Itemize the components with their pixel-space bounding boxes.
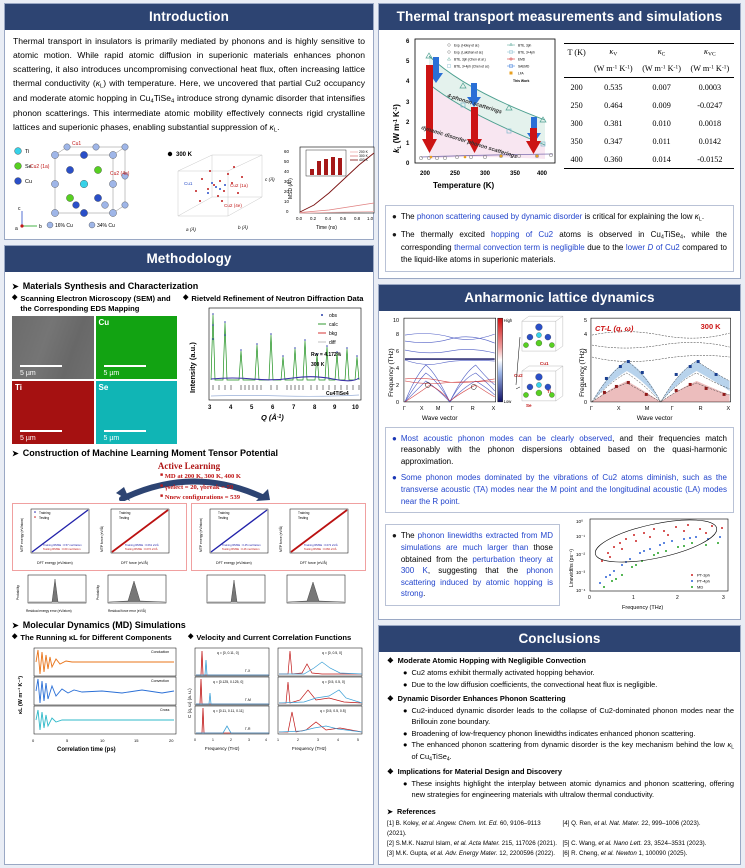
res1-xlabel: Residual energy error (eV/atom) (26, 609, 72, 613)
ml2-legend-training: Training (119, 511, 131, 515)
ml-plot-energy-2: Training Testing MTP energy (eV/atom) DF… (194, 506, 272, 568)
svg-text:10: 10 (352, 405, 359, 411)
table-row: 300 0.381 0.010 0.0018 (564, 114, 734, 132)
md-left-title-label: The Running κL for Different Components (20, 633, 171, 642)
active-learning-title: Active Learning (12, 461, 366, 471)
ccf-q-1: q = [0, 0.11, 0] (217, 651, 239, 655)
md-running-kappa-svg: Conduction Convection Cross 05 101520 Co… (12, 646, 180, 754)
right-plot-ylabel: Frequency (THz) (579, 348, 586, 397)
left-plot-ylabel: Frequency (THz) (388, 348, 395, 397)
lw-legend-pt3ph: PT-3ph (697, 573, 710, 578)
svg-text:2: 2 (406, 120, 410, 126)
lw-ytick-3: 10⁻¹ (576, 534, 586, 539)
traj-label-cu1: Cu1 (184, 181, 193, 186)
ml-box-left: Training Testing MTP energy (eV/atom) DF… (12, 503, 187, 571)
ml-plot-energy-1: Training Testing MTP energy (eV/atom) DF… (15, 506, 93, 568)
poster-root: Introduction Thermal transport in insula… (0, 0, 745, 868)
methodology-h2-label: Construction of Machine Learning Moment … (23, 448, 278, 458)
linewidth-row: ● The phonon linewidths extracted from M… (379, 517, 740, 619)
traj-axis-a: a (Å) (186, 226, 196, 232)
active-learning-flow: ■ MD at 200 K, 300 K, 400 K ■ γselect = … (12, 471, 366, 501)
ml3-legend-training: Training (218, 511, 230, 515)
rietveld-legend-obs: obs (329, 313, 338, 319)
svg-text:0.4: 0.4 (325, 216, 332, 221)
conclusion-heading-1: ❖ Moderate Atomic Hopping with Negligibl… (387, 656, 734, 667)
svg-text:0: 0 (194, 738, 196, 742)
rietveld-legend-calc: calc (329, 322, 338, 328)
kappa-vs-temperature-chart: 4-phonon scatterings dynamic disorder ph… (385, 35, 560, 200)
svg-text:5: 5 (584, 318, 587, 324)
right-column: Thermal transport measurements and simul… (378, 3, 741, 865)
eds-label-se: Se (99, 383, 109, 392)
ml2-xlabel: DFT force (eV/Å) (121, 560, 148, 565)
cell-kv: 0.381 (589, 114, 637, 132)
svg-text:0.2: 0.2 (310, 216, 317, 221)
arrow-bullet-icon: ➤ (12, 621, 19, 630)
lw-ytick-1: 10⁻³ (576, 570, 586, 575)
crystal-structure-svg: Ti Se Cu (10, 141, 160, 236)
svg-text:4: 4 (396, 366, 399, 372)
legend-bte-34ph: BTE, 3+4ph (518, 51, 535, 55)
anharmonic-bullets: ● Most acoustic phonon modes can be clea… (385, 427, 734, 514)
ml-parity-row: Training Testing MTP energy (eV/atom) DF… (12, 503, 366, 571)
trajectory-temp: 300 K (176, 152, 193, 158)
struct-label-se: Se (526, 403, 532, 408)
svg-text:0: 0 (32, 738, 35, 743)
svg-text:Γ: Γ (590, 406, 593, 412)
svg-text:2: 2 (297, 738, 299, 742)
cell-t: 250 (564, 96, 589, 114)
conclusion-heading-2: ❖ Dynamic Disorder Enhances Phonon Scatt… (387, 694, 734, 705)
conclusion-heading-3: ❖ Implications for Material Design and D… (387, 767, 734, 778)
linewidth-bullet-box: ● The phonon linewidths extracted from M… (385, 524, 560, 606)
ml1-note2: Testing RMSE : 0.60 meV/atom (43, 547, 81, 551)
references-heading-label: References (397, 807, 436, 817)
cell-kvc: 0.0003 (686, 78, 734, 97)
rietveld-block: ◆ Rietveld Refinement of Neutron Diffrac… (183, 294, 366, 444)
ml4-ylabel: MTP force (eV/Å) (278, 526, 283, 552)
cell-kv: 0.347 (589, 132, 637, 150)
axis-a: a (15, 226, 18, 232)
legend-bte-3ph: BTE, 3ph (518, 44, 532, 48)
svg-text:40: 40 (284, 169, 289, 174)
kappa-chart-ylabel: kL (W m-1 K-1) (392, 104, 403, 153)
ml3-xlabel: DFT energy (eV/atom) (216, 561, 252, 565)
md-panel-label-cross: Cross (160, 708, 170, 712)
struct-label-ti: Ti (547, 389, 551, 394)
eds-panel-sem: 5 µm (12, 316, 94, 379)
residual-energy-2 (191, 573, 269, 615)
left-plot-xlabel: Wave vector (422, 415, 459, 422)
list-item: ● These insights highlight the interplay… (403, 779, 734, 800)
svg-text:8: 8 (396, 332, 399, 338)
table-row: 200 0.535 0.007 0.0003 (564, 78, 734, 97)
colorbar-high: High (504, 318, 512, 323)
spectral-temp: 300 K (701, 322, 722, 331)
conclusion-heading-1-label: Moderate Atomic Hopping with Negligible … (398, 656, 586, 667)
bullet-dot-icon: ● (392, 211, 397, 224)
legend-bte-34ph-chen: BTE, 3+4ph (Chen et al.) (454, 65, 489, 69)
reference-item: [3] M.K. Gupta, et al. Adv. Energy Mater… (387, 849, 559, 859)
bullet-dot-icon: ● (403, 668, 407, 679)
panel-conclusions: Conclusions ❖ Moderate Atomic Hopping wi… (378, 625, 741, 865)
lw-ylabel: Linewidths (ps⁻¹) (569, 549, 575, 587)
ml2-ylabel: MTP force (eV/Å) (99, 526, 104, 552)
rietveld-xlabel: Q (Å-1) (261, 413, 284, 422)
svg-text:1: 1 (632, 595, 635, 601)
label-cu2-4e: Cu2 (4e) (110, 171, 130, 177)
bullet-dot-icon: ● (392, 433, 397, 468)
svg-text:R: R (471, 406, 475, 412)
svg-text:1: 1 (277, 738, 279, 742)
svg-text:X: X (727, 406, 731, 412)
conclusions-body: ❖ Moderate Atomic Hopping with Negligibl… (379, 652, 740, 863)
svg-text:20: 20 (169, 738, 174, 743)
ccf-branch-3: Γ-R (245, 727, 251, 731)
md-titles-row: ◆ The Running κL for Different Component… (12, 633, 366, 642)
ml4-legend-training: Training (298, 511, 310, 515)
list-item: ● Broadening of low-frequency phonon lin… (403, 729, 734, 740)
svg-text:1.0: 1.0 (367, 216, 374, 221)
svg-text:0: 0 (406, 161, 410, 167)
al-item-0: MD at 200 K, 300 K, 400 K (165, 473, 241, 480)
svg-text:1: 1 (212, 738, 214, 742)
svg-text:X: X (420, 406, 424, 412)
eds-panel-ti: Ti 5 µm (12, 381, 94, 444)
th-unit-blank (564, 61, 589, 78)
svg-text:0.0: 0.0 (296, 216, 303, 221)
phonon-dispersion-left-svg: High Low 024 6810 ΓXM ΓRX Wave vector Fr… (384, 315, 512, 423)
svg-text:3: 3 (406, 100, 410, 106)
al-item-2: Nnew configurations = 539 (165, 494, 240, 501)
list-item: ● The phonon linewidths extracted from M… (392, 530, 553, 600)
svg-text:8: 8 (313, 405, 317, 411)
sem-eds-block: ◆ Scanning Electron Microscopy (SEM) and… (12, 294, 177, 444)
diamond-outline-icon: ❖ (387, 767, 394, 778)
ccf-r-q-3: q = [0.5, 0.5, 0.5] (320, 709, 346, 713)
characterization-row: ◆ Scanning Electron Microscopy (SEM) and… (12, 294, 366, 444)
panel-thermal: Thermal transport measurements and simul… (378, 3, 741, 279)
svg-text:Γ: Γ (671, 406, 674, 412)
ccf-q-3: q = [0.11, 0.11, 0.11] (213, 709, 244, 713)
thermal-bullet-2: The thermally excited hopping of Cu2 ato… (401, 229, 727, 265)
eds-label-ti: Ti (15, 383, 22, 392)
cell-kvc: -0.0152 (686, 150, 734, 169)
md-ccf-right-svg: q = [0, 0.5, 0] q = [0.5, 0.5, 0] q = [0… (274, 646, 366, 754)
thermal-title: Thermal transport measurements and simul… (379, 4, 740, 30)
md-plots-row: Conduction Convection Cross 05 101520 Co… (12, 646, 366, 754)
traj-label-cu2-1a: Cu2 (1a) (230, 183, 248, 188)
ml-residual-row: Probability Residual energy error (eV/at… (12, 573, 366, 615)
svg-text:300: 300 (480, 171, 491, 177)
svg-text:5: 5 (357, 738, 359, 742)
list-item: ● Some phonon modes dominated by the vib… (392, 472, 727, 507)
conclusion-heading-3-label: Implications for Material Design and Dis… (398, 767, 562, 778)
msd-ylabel: MSD (Å²) (287, 178, 294, 199)
md-panel-label-convection: Convection (151, 679, 169, 683)
list-item: ● Cu2 atoms exhibit thermally activated … (403, 668, 734, 679)
ccf-branch-1: Γ-X (245, 669, 251, 673)
linewidths-scatter-svg: PT-3ph PT-4ph MD 10⁻⁴ 10⁻³ 10⁻² 10⁻¹ 10⁰… (564, 517, 732, 613)
reference-item: [5] C. Wang, et al. Nano Lett. 23, 3524–… (563, 839, 735, 849)
kappa-chart-xlabel: Temperature (K) (433, 181, 495, 190)
conclusion-3-item-1: These insights highlight the interplay b… (411, 779, 734, 800)
axis-b: b (39, 224, 42, 230)
diamond-bullet-icon: ◆ (183, 294, 188, 303)
svg-text:7: 7 (292, 405, 296, 411)
svg-text:5: 5 (66, 738, 69, 743)
cell-kc: 0.009 (637, 96, 685, 114)
th-kc: κC (637, 44, 685, 62)
cell-t: 300 (564, 114, 589, 132)
occupancy-16: 16% Cu (55, 223, 73, 229)
eds-panel-se: Se 5 µm (96, 381, 178, 444)
list-item: ● The thermally excited hopping of Cu2 a… (392, 229, 727, 265)
svg-text:4: 4 (584, 332, 587, 338)
lw-ytick-4: 10⁰ (576, 519, 583, 524)
ccf-r-q-2: q = [0.5, 0.5, 0] (322, 680, 345, 684)
occupancy-34: 34% Cu (97, 223, 115, 229)
svg-text:4: 4 (406, 79, 410, 85)
msd-legend-400: 400 K (359, 158, 369, 162)
th-unit-kc: (W m-1 K-1) (637, 61, 685, 78)
cell-kc: 0.014 (637, 150, 685, 169)
msd-svg: 01020 30405060 0.00.20.4 0.60.81.0 Time … (284, 141, 379, 236)
svg-text:0: 0 (396, 400, 399, 406)
lw-legend-md: MD (697, 585, 703, 590)
md-left-title: ◆ The Running κL for Different Component… (12, 633, 182, 642)
rietveld-legend-bkg: bkg (329, 331, 337, 337)
svg-text:50: 50 (284, 159, 289, 164)
traj-label-cu2-4e: Cu2 (4e) (224, 203, 242, 208)
svg-text:Γ: Γ (451, 406, 454, 412)
res2-xlabel: Residual force error (eV/Å) (108, 608, 146, 613)
th-t: T (K) (564, 44, 589, 62)
md-right-title: ◆ Velocity and Current Correlation Funct… (188, 633, 366, 642)
ccf-mid-ylabel: C (q, ω) (a. u.) (187, 688, 192, 718)
ml1-note1: Training RMSE : 0.57 meV/atom (43, 543, 82, 547)
rietveld-title-label: Rietveld Refinement of Neutron Diffracti… (191, 294, 363, 303)
lw-legend-pt4ph: PT-4ph (697, 579, 710, 584)
cell-t: 400 (564, 150, 589, 169)
svg-text:5: 5 (250, 405, 254, 411)
right-plot-xlabel: Wave vector (637, 415, 674, 422)
struct-label-cu2: Cu2 (514, 373, 523, 378)
svg-text:15: 15 (134, 738, 139, 743)
anharmonic-bullets-wrap: ● Most acoustic phonon modes can be clea… (379, 425, 740, 518)
svg-text:0.6: 0.6 (340, 216, 347, 221)
kappa-table-body: 200 0.535 0.007 0.0003 250 0.464 0.009 -… (564, 78, 734, 169)
rietveld-title: ◆ Rietveld Refinement of Neutron Diffrac… (183, 294, 366, 303)
cell-t: 350 (564, 132, 589, 150)
methodology-title: Methodology (5, 246, 373, 272)
ml3-note1: Training RMSE : 0.45 meV/atom (222, 543, 261, 547)
anharmonic-figs-row: High Low 024 6810 ΓXM ΓRX Wave vector Fr… (379, 311, 740, 425)
panel-methodology: Methodology ➤ Materials Synthesis and Ch… (4, 245, 374, 865)
active-learning-items: ■ MD at 200 K, 300 K, 400 K ■ γselect = … (160, 472, 241, 503)
scale-bar (104, 365, 146, 367)
cell-kc: 0.011 (637, 132, 685, 150)
spectral-function-svg: CT-L (q, ω) 300 K 012 345 ΓXM ΓRX Wave v… (575, 315, 735, 423)
ml3-legend-testing: Testing (218, 516, 228, 520)
svg-text:250: 250 (450, 171, 461, 177)
svg-text:0: 0 (588, 595, 591, 601)
th-kv: κV (589, 44, 637, 62)
svg-text:2: 2 (396, 383, 399, 389)
bullet-dot-icon: ● (403, 779, 407, 800)
linewidth-bullet: The phonon linewidths extracted from MD … (401, 530, 553, 600)
svg-text:6: 6 (396, 349, 399, 355)
bullet-dot-icon: ● (392, 530, 397, 600)
thermal-bullets-wrap: ● The phonon scattering caused by dynami… (379, 203, 740, 278)
ml1-legend-testing: Testing (39, 516, 49, 520)
kappa-table-wrap: T (K) κV κC κVC (W m-1 K-1) (W m-1 K-1) … (564, 35, 734, 200)
svg-text:0: 0 (286, 209, 289, 214)
svg-text:Γ: Γ (403, 406, 406, 412)
residual-box-right (191, 573, 366, 615)
scale-bar (104, 430, 146, 432)
crystal-structure-figure: Ti Se Cu (10, 141, 160, 234)
conclusion-heading-2-label: Dynamic Disorder Enhances Phonon Scatter… (398, 694, 566, 705)
cell-kvc: 0.0142 (686, 132, 734, 150)
ml1-ylabel: MTP energy (eV/atom) (20, 518, 24, 552)
eds-scale-se: 5 µm (104, 435, 120, 442)
bullet-dot-icon: ● (392, 472, 397, 507)
ccf-r-q-1: q = [0, 0.5, 0] (322, 651, 342, 655)
md-ccf-mid-svg: q = [0, 0.11, 0] Γ-X q = [0.125, 0.125, … (183, 646, 271, 754)
eds-scale-ti: 5 µm (20, 435, 36, 442)
svg-text:350: 350 (510, 171, 521, 177)
ml1-legend-training: Training (39, 511, 51, 515)
conclusion-1-item-2: Due to the low diffusion coefficients, t… (411, 680, 734, 691)
methodology-subheading-3: ➤ Molecular Dynamics (MD) Simulations (12, 620, 366, 630)
th-kvc: κVC (686, 44, 734, 62)
table-row: 250 0.464 0.009 -0.0247 (564, 96, 734, 114)
eds-grid: 5 µm Cu 5 µm Ti 5 µm (12, 316, 177, 444)
structure-figure-row: Ti Se Cu (5, 139, 373, 239)
cell-kc: 0.007 (637, 78, 685, 97)
svg-text:0.8: 0.8 (354, 216, 361, 221)
conclusions-title: Conclusions (379, 626, 740, 652)
ml-plot-force-1: Training Testing MTP force (eV/Å) DFT fo… (95, 506, 173, 568)
arrow-bullet-icon: ➤ (12, 282, 19, 291)
structure-insets-svg: Cu1 Cu2 Ti Se (514, 315, 574, 423)
references-list: [1] B. Koley, et al. Angew. Chem. Int. E… (387, 819, 734, 859)
sem-title-label: Scanning Electron Microscopy (SEM) and t… (20, 294, 177, 313)
table-row: 350 0.347 0.011 0.0142 (564, 132, 734, 150)
rietveld-svg: obs calc bkg diff Rw = 4.172% 300 K Cu4T… (183, 305, 365, 423)
bullet-dot-icon: ● (403, 680, 407, 691)
arrow-bullet-icon: ➤ (12, 449, 19, 458)
list-item: ● Due to the low diffusion coefficients,… (403, 680, 734, 691)
cell-kc: 0.010 (637, 114, 685, 132)
svg-text:3: 3 (722, 595, 725, 601)
residual-box-left: Probability Residual energy error (eV/at… (12, 573, 187, 615)
svg-text:M: M (436, 406, 441, 412)
svg-text:10: 10 (393, 318, 399, 324)
lw-ytick-2: 10⁻² (576, 552, 586, 557)
ml1-xlabel: DFT energy (eV/atom) (37, 561, 73, 565)
introduction-body: Thermal transport in insulators is prima… (5, 30, 373, 139)
md-panel-label-conduction: Conduction (151, 650, 169, 654)
svg-text:X: X (617, 406, 621, 412)
thermal-bullets: ● The phonon scattering caused by dynami… (385, 205, 734, 272)
diamond-outline-icon: ❖ (387, 656, 394, 667)
table-row: 400 0.360 0.014 -0.0152 (564, 150, 734, 169)
residual-force-2 (271, 573, 349, 615)
bullet-dot-icon: ● (403, 706, 407, 727)
anharmonic-title: Anharmonic lattice dynamics (379, 285, 740, 311)
legend-this-work: This Work (513, 79, 529, 83)
anharmonic-bullet-2: Some phonon modes dominated by the vibra… (401, 472, 727, 507)
diamond-bullet-icon: ◆ (188, 633, 193, 642)
svg-text:3: 3 (317, 738, 319, 742)
svg-text:9: 9 (333, 405, 337, 411)
ml3-ylabel: MTP energy (eV/atom) (199, 518, 203, 552)
res2-ylabel: Probability (96, 585, 100, 600)
reference-item: [4] Q. Ren, et al. Nat. Mater. 22, 999–1… (563, 819, 735, 839)
diamond-bullet-icon: ◆ (12, 294, 17, 303)
svg-text:3: 3 (248, 738, 250, 742)
scale-bar (20, 365, 62, 367)
lw-ytick-0: 10⁻⁴ (576, 588, 586, 593)
ccf-right-xlabel: Frequency (THz) (292, 746, 327, 751)
bullet-dot-icon: ● (392, 229, 397, 265)
rietveld-ylabel: Intensity (a.u.) (188, 342, 197, 393)
list-item: ● Most acoustic phonon modes can be clea… (392, 433, 727, 468)
cell-t: 200 (564, 78, 589, 97)
sem-title: ◆ Scanning Electron Microscopy (SEM) and… (12, 294, 177, 313)
rietveld-temp: 300 K (311, 362, 325, 368)
cell-kvc: 0.0018 (686, 114, 734, 132)
svg-text:60: 60 (284, 149, 289, 154)
reference-item: [6] R. Cheng, et al. Newton 1, 100090 (2… (563, 849, 735, 859)
residual-force-1: Probability Residual force error (eV/Å) (92, 573, 170, 615)
legend-exp-holey: Exp. (Holey et al.) (454, 44, 479, 48)
svg-text:400: 400 (537, 171, 548, 177)
svg-text:3: 3 (208, 405, 212, 411)
lw-xlabel: Frequency (THz) (622, 605, 663, 611)
ccf-q-2: q = [0.125, 0.125, 0] (213, 680, 243, 684)
residual-energy-1: Probability Residual energy error (eV/at… (12, 573, 90, 615)
thermal-bullet-1: The phonon scattering caused by dynamic … (401, 211, 727, 224)
colorbar-low: Low (504, 399, 512, 404)
rietveld-phase: Cu4TiSe4 (326, 391, 349, 397)
svg-text:200: 200 (420, 171, 431, 177)
trajectory-svg: 300 K (162, 141, 282, 236)
svg-text:4: 4 (337, 738, 339, 742)
ml-box-right: Training Testing MTP energy (eV/atom) DF… (191, 503, 366, 571)
conclusion-1-item-1: Cu2 atoms exhibit thermally activated ho… (411, 668, 734, 679)
bullet-dot-icon: ● (403, 740, 407, 763)
ml4-legend-testing: Testing (298, 516, 308, 520)
svg-text:2: 2 (676, 595, 679, 601)
atom-legend-ti: Ti (25, 149, 29, 155)
list-item: ● The phonon scattering caused by dynami… (392, 211, 727, 224)
svg-text:M: M (645, 406, 650, 412)
references-heading: ➤ References (387, 807, 734, 817)
struct-label-cu1: Cu1 (540, 361, 549, 366)
conclusion-2-item-3: The enhanced phonon scattering from dyna… (411, 740, 734, 763)
introduction-title: Introduction (5, 4, 373, 30)
scale-bar (20, 430, 62, 432)
diamond-outline-icon: ❖ (387, 694, 394, 705)
list-item: ● Cu2-induced dynamic disorder leads to … (403, 706, 734, 727)
label-cu1: Cu1 (72, 141, 81, 147)
md-left-xlabel: Correlation time (ps) (57, 747, 116, 753)
rietveld-rw: Rw = 4.172% (311, 352, 342, 358)
ml4-xlabel: DFT force (eV/Å) (300, 560, 327, 565)
